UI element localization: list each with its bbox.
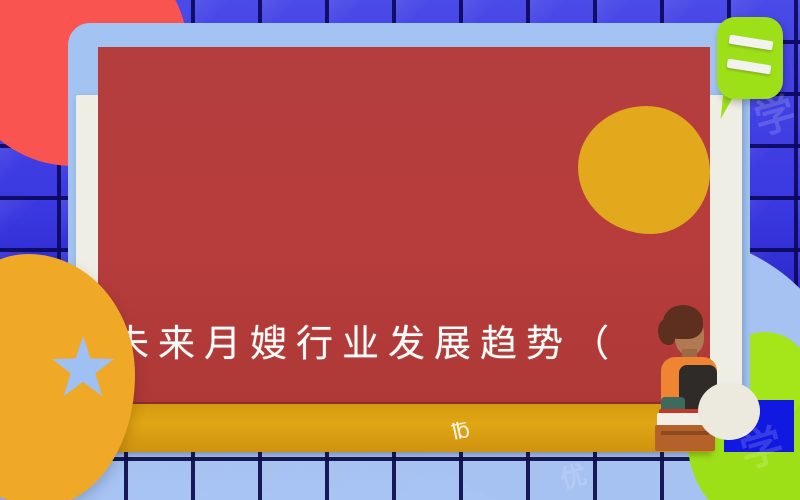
banner-image: 未来月嫂行业发展趋势（ 月嫂行业发展前景和趋势） ℔ 学 学 优 [0,0,800,500]
student-book-brown-line [661,431,709,435]
blackboard-ledge [98,404,712,452]
green-speech-bubble-icon [717,17,783,99]
blackboard-headline: 未来月嫂行业发展趋势（ 月嫂行业发展前景和趋势） [112,196,702,500]
headline-line-2: 月嫂行业发展前景和趋势） [112,491,702,500]
student-hair [663,305,703,339]
floor-highlight [698,382,760,440]
headline-line-1: 未来月嫂行业发展趋势（ [112,314,702,373]
